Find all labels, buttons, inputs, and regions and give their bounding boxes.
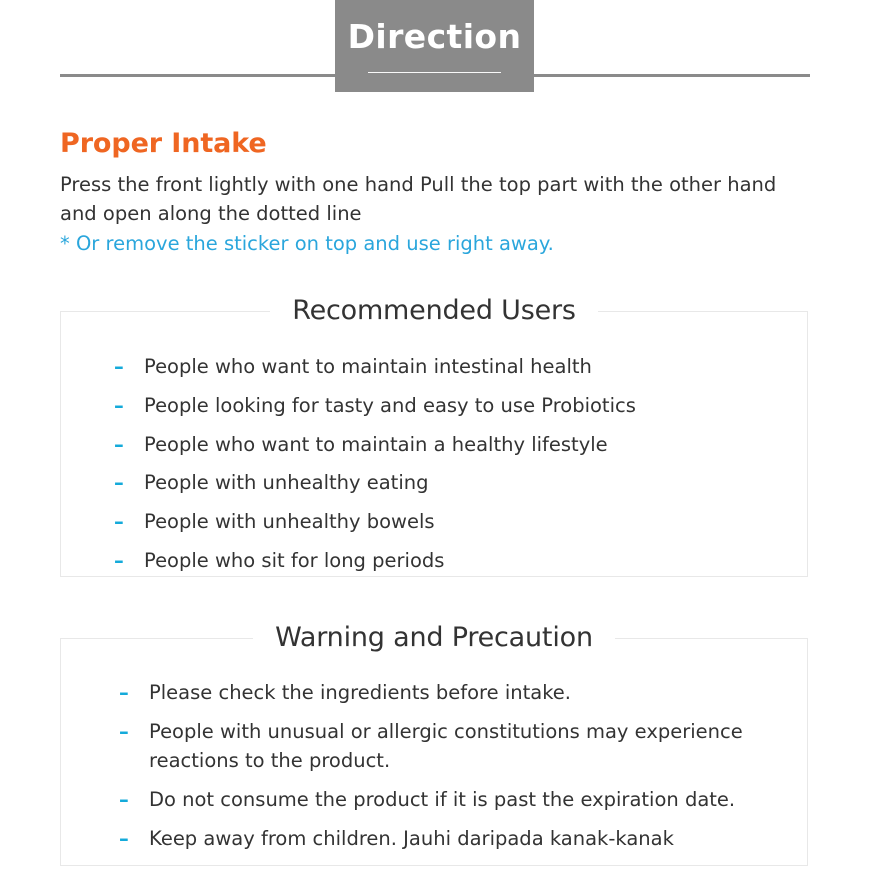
list-item-label: People who sit for long periods: [144, 549, 444, 572]
list-item-label: People who want to maintain a healthy li…: [144, 433, 608, 456]
proper-intake-heading: Proper Intake: [60, 128, 820, 159]
list-item: – Please check the ingredients before in…: [119, 679, 767, 707]
warning-precaution-list: – Please check the ingredients before in…: [119, 679, 767, 853]
list-item-label: People with unhealthy eating: [144, 471, 428, 494]
list-item-label: Please check the ingredients before inta…: [149, 681, 571, 704]
list-item-label: Do not consume the product if it is past…: [149, 788, 735, 811]
list-item: – People with unusual or allergic consti…: [119, 718, 767, 775]
proper-intake-note: * Or remove the sticker on top and use r…: [60, 230, 820, 258]
list-item-label: People looking for tasty and easy to use…: [144, 394, 636, 417]
warning-precaution-section: Warning and Precaution – Please check th…: [60, 638, 808, 866]
recommended-users-list-wrap: – People who want to maintain intestinal…: [61, 312, 807, 575]
recommended-users-section: Recommended Users – People who want to m…: [60, 311, 808, 577]
list-item: – People who sit for long periods: [114, 547, 807, 575]
dash-bullet-icon: –: [114, 547, 124, 575]
page-title: Direction: [335, 0, 534, 53]
warning-precaution-list-wrap: – Please check the ingredients before in…: [61, 639, 807, 853]
dash-bullet-icon: –: [119, 825, 129, 853]
list-item: – People who want to maintain a healthy …: [114, 431, 807, 459]
dash-bullet-icon: –: [114, 469, 124, 497]
proper-intake-body: Press the front lightly with one hand Pu…: [60, 171, 788, 228]
list-item-label: Keep away from children. Jauhi daripada …: [149, 827, 674, 850]
list-item-label: People with unusual or allergic constitu…: [149, 720, 743, 771]
list-item-label: People with unhealthy bowels: [144, 510, 435, 533]
header-title-plate: Direction: [335, 0, 534, 92]
recommended-users-list: – People who want to maintain intestinal…: [114, 353, 807, 575]
proper-intake-block: Proper Intake Press the front lightly wi…: [60, 128, 820, 258]
header-title-underline: [368, 72, 501, 73]
dash-bullet-icon: –: [119, 679, 129, 707]
list-item: – People looking for tasty and easy to u…: [114, 392, 807, 420]
page-header: Direction: [0, 0, 870, 95]
list-item: – Keep away from children. Jauhi daripad…: [119, 825, 767, 853]
dash-bullet-icon: –: [119, 718, 129, 746]
dash-bullet-icon: –: [114, 508, 124, 536]
dash-bullet-icon: –: [114, 431, 124, 459]
list-item: – People who want to maintain intestinal…: [114, 353, 807, 381]
dash-bullet-icon: –: [114, 353, 124, 381]
dash-bullet-icon: –: [114, 392, 124, 420]
list-item: – Do not consume the product if it is pa…: [119, 786, 767, 814]
dash-bullet-icon: –: [119, 786, 129, 814]
list-item-label: People who want to maintain intestinal h…: [144, 355, 592, 378]
list-item: – People with unhealthy bowels: [114, 508, 807, 536]
list-item: – People with unhealthy eating: [114, 469, 807, 497]
